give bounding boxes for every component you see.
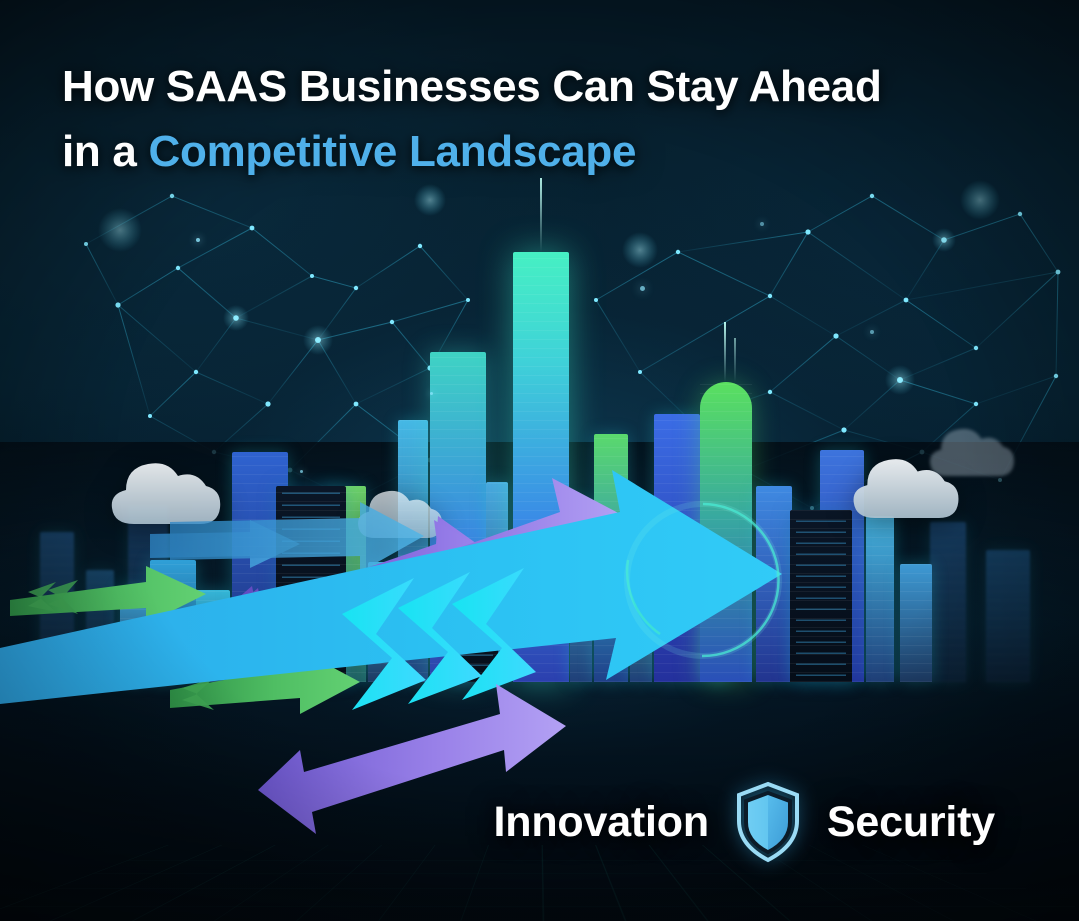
spark (430, 392, 433, 395)
spark (870, 330, 874, 334)
spark (300, 470, 303, 473)
spark (640, 286, 645, 291)
security-label: Security (827, 798, 995, 847)
hero-graphic: How SAAS Businesses Can Stay Ahead in a … (0, 0, 1079, 921)
headline-line-2-prefix: in a (62, 127, 149, 176)
spark (196, 238, 200, 242)
shield-icon (735, 781, 801, 863)
spark (760, 222, 764, 226)
headline-line-2-accent: Competitive Landscape (149, 127, 637, 176)
headline-line-1: How SAAS Businesses Can Stay Ahead (62, 62, 882, 111)
innovation-label: Innovation (494, 798, 709, 847)
footer-badges: Innovation Security (0, 781, 1079, 863)
page-title: How SAAS Businesses Can Stay Ahead in a … (62, 55, 1022, 183)
